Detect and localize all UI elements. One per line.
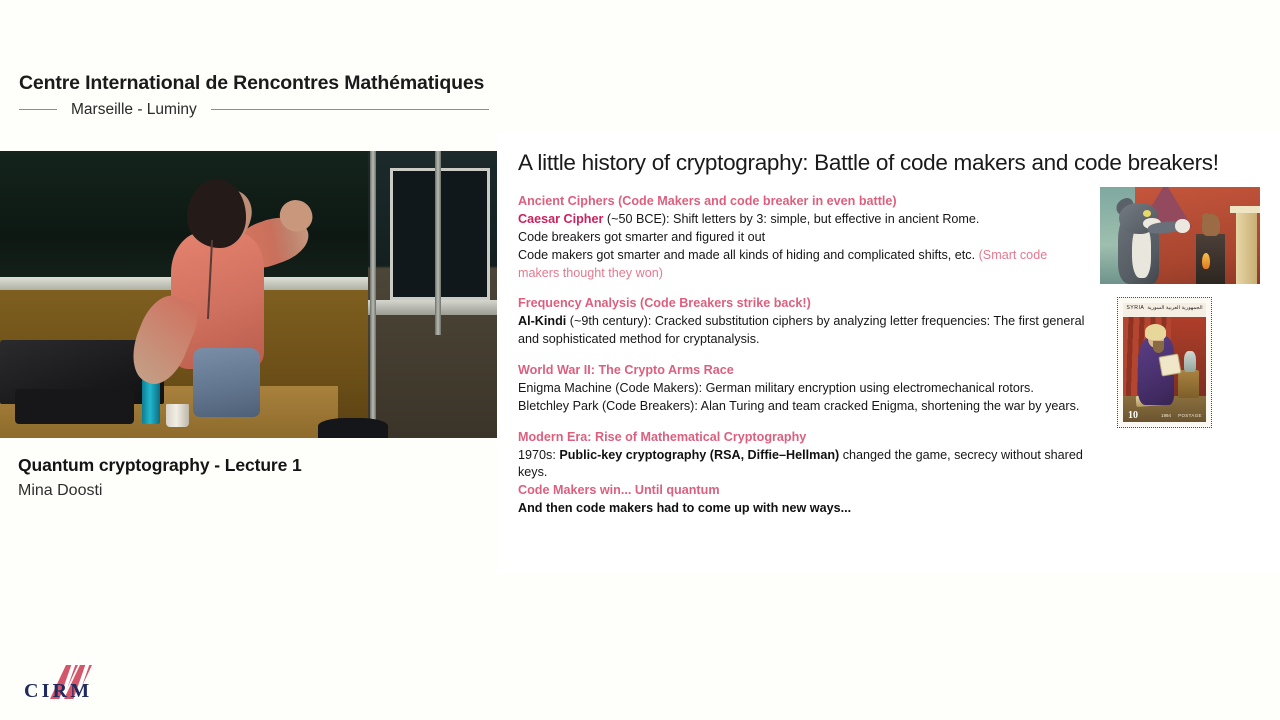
block-line: Al-Kindi (~9th century): Cracked substit… (518, 313, 1090, 349)
block-line: Caesar Cipher (~50 BCE): Shift letters b… (518, 211, 1090, 229)
institution-header: Centre International de Rencontres Mathé… (19, 72, 489, 118)
line-lead: Caesar Cipher (518, 212, 603, 226)
block-heading: Modern Era: Rise of Mathematical Cryptog… (518, 429, 1090, 447)
line-rest: Code makers got smarter and made all kin… (518, 248, 979, 262)
line-rest: Bletchley Park (Code Breakers): Alan Tur… (518, 399, 1079, 413)
line-lead: 1970s: (518, 448, 559, 462)
svg-text:CIRM: CIRM (24, 680, 92, 702)
stamp-table (1178, 370, 1200, 399)
stamp-lamp (1184, 351, 1196, 372)
stamp-figure-book (1158, 354, 1181, 377)
line-mid: Public-key cryptography (RSA, Diffie–Hel… (559, 448, 839, 462)
stamp-figure-beard (1153, 341, 1164, 353)
cartoon-plinth (1196, 234, 1225, 284)
line-rest: (~9th century): Cracked substitution cip… (518, 314, 1084, 346)
block-line: Bletchley Park (Code Breakers): Alan Tur… (518, 398, 1090, 416)
speaker-hair (187, 179, 247, 248)
speaker-figure (149, 174, 348, 438)
desk-laptop (15, 389, 134, 423)
institution-location: Marseille - Luminy (57, 102, 211, 118)
block-heading: Frequency Analysis (Code Breakers strike… (518, 295, 1090, 313)
cirm-logo: CIRM (22, 663, 118, 707)
lecture-metadata: Quantum cryptography - Lecture 1 Mina Do… (18, 455, 488, 500)
window-sill (368, 300, 497, 314)
slide-block-ancient-ciphers: Ancient Ciphers (Code Makers and code br… (518, 193, 1090, 282)
stamp-postage-label: POSTAGE (1178, 413, 1202, 418)
stamp-year: 1994 (1161, 413, 1171, 418)
presentation-viewer: Centre International de Rencontres Mathé… (0, 0, 1280, 720)
stamp-image: SYRIA الجمهورية العربية السورية 10 POSTA… (1117, 297, 1212, 428)
slide-block-modern-era: Modern Era: Rise of Mathematical Cryptog… (518, 429, 1090, 518)
block-heading: Ancient Ciphers (Code Makers and code br… (518, 193, 1090, 211)
slide-title: A little history of cryptography: Battle… (518, 150, 1219, 176)
stamp-country-label: SYRIA (1126, 305, 1144, 311)
block-line: Code breakers got smarter and figured it… (518, 229, 1090, 247)
slide-body: Ancient Ciphers (Code Makers and code br… (518, 193, 1090, 518)
slide-block-world-war-two: World War II: The Crypto Arms Race Enigm… (518, 362, 1090, 416)
line-rest: Code breakers got smarter and figured it… (518, 230, 765, 244)
block-closing-line: And then code makers had to come up with… (518, 500, 1090, 518)
institution-location-row: Marseille - Luminy (19, 102, 489, 118)
lecture-speaker: Mina Doosti (18, 482, 488, 500)
slide-panel: A little history of cryptography: Battle… (497, 131, 1280, 574)
window-mullion-right (435, 151, 441, 335)
cartoon-mouse (1202, 214, 1220, 236)
cartoon-cat-hand (1175, 219, 1189, 233)
block-line: Code makers got smarter and made all kin… (518, 247, 1090, 283)
line-rest: Enigma Machine (Code Makers): German mil… (518, 381, 1034, 395)
block-line: 1970s: Public-key cryptography (RSA, Dif… (518, 447, 1090, 483)
institution-name: Centre International de Rencontres Mathé… (19, 72, 489, 95)
stamp-denomination: 10 (1128, 410, 1138, 421)
line-lead: Al-Kindi (518, 314, 566, 328)
speaker-skirt (193, 348, 261, 417)
lecture-title: Quantum cryptography - Lecture 1 (18, 455, 488, 476)
line-rest: (~50 BCE): Shift letters by 3: simple, b… (603, 212, 979, 226)
stamp-country-label-arabic: الجمهورية العربية السورية (1147, 305, 1202, 311)
lecture-video[interactable] (0, 151, 497, 438)
window-mullion-left (370, 151, 376, 438)
slide-block-frequency-analysis: Frequency Analysis (Code Breakers strike… (518, 295, 1090, 349)
block-subheading: Code Makers win... Until quantum (518, 482, 1090, 500)
cirm-logo-graphic: CIRM (22, 663, 118, 707)
stamp-inner: SYRIA الجمهورية العربية السورية 10 POSTA… (1123, 303, 1206, 422)
header-rule-left (19, 109, 57, 110)
cartoon-image (1100, 187, 1260, 284)
cartoon-pillar (1236, 210, 1257, 284)
header-rule-right (211, 109, 489, 110)
block-heading: World War II: The Crypto Arms Race (518, 362, 1090, 380)
block-line: Enigma Machine (Code Makers): German mil… (518, 380, 1090, 398)
stamp-figure-turban (1145, 324, 1167, 339)
cartoon-pillar-cap (1230, 206, 1260, 213)
